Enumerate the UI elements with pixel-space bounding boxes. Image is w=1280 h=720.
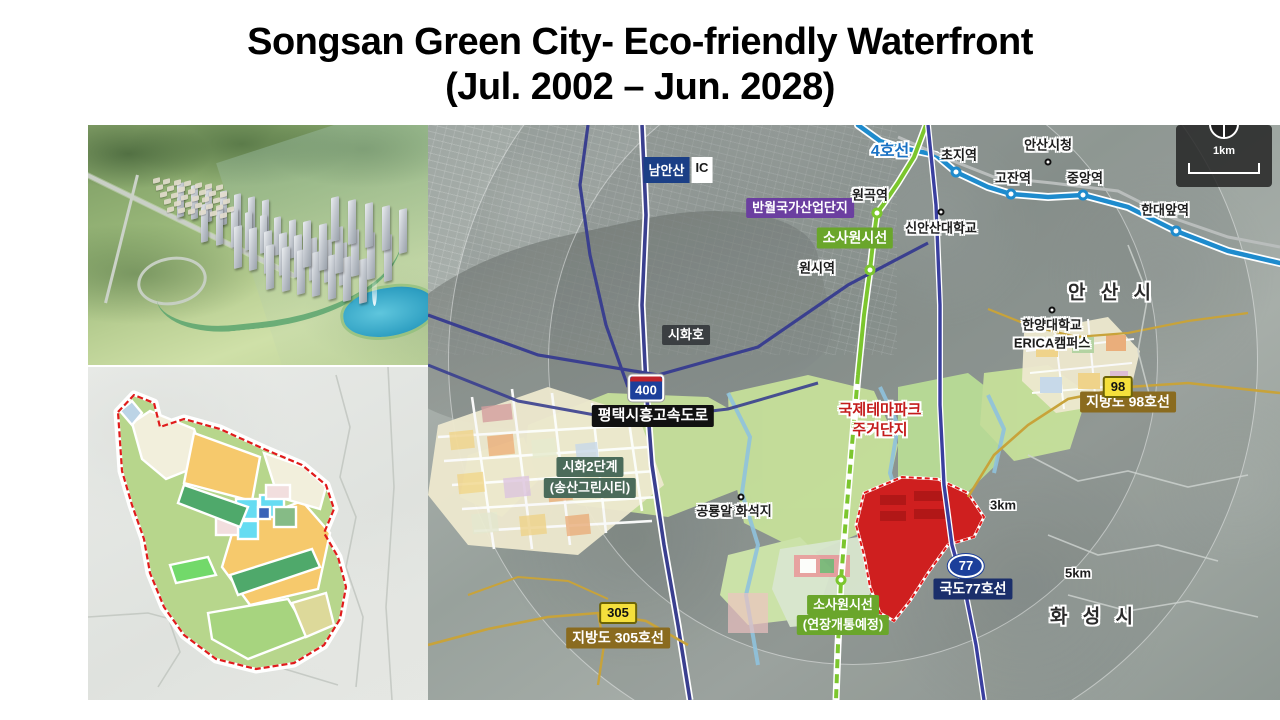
aerial-tower [303, 220, 311, 268]
aerial-tower [234, 225, 242, 269]
aerial-lowrise-block [181, 194, 188, 201]
label-wonsi-station: 원시역 [799, 262, 835, 275]
title-line-1: Songsan Green City- Eco-friendly Waterfr… [247, 21, 1033, 63]
station-wonsi [865, 265, 876, 276]
expressway-diagonal [428, 243, 928, 375]
aerial-tower [249, 227, 257, 271]
aerial-tower [359, 258, 367, 304]
label-handaeap-station: 한대앞역 [1141, 204, 1189, 217]
shield-400-number: 400 [635, 383, 657, 398]
landuse-vector [88, 367, 428, 700]
title-line-2: (Jul. 2002 – Jun. 2028) [0, 65, 1280, 110]
label-banwol-industrial-complex: 반월국가산업단지 [746, 198, 854, 218]
regional-satellite-map: 남안산 IC 4호선 반월국가산업단지 소사원시선 원곡역 원시역 초지역 안산… [428, 125, 1280, 700]
poi-dinosaur-egg-fossil-site [738, 494, 745, 501]
aerial-tower [331, 196, 339, 242]
label-line-4: 4호선 [871, 144, 909, 160]
aerial-tower [399, 208, 407, 254]
label-ansan-si: 안 산 시 [1068, 284, 1156, 303]
scale-bar [1188, 163, 1260, 174]
aerial-tower [266, 244, 274, 290]
label-shinansan-university: 신안산대학교 [905, 222, 977, 235]
label-sihwa-phase-2: 시화2단계 [556, 457, 623, 477]
label-gojan-station: 고잔역 [995, 172, 1031, 185]
label-dinosaur-egg-fossil-site: 공룡알 화석지 [696, 505, 771, 518]
aerial-tower [365, 202, 373, 248]
label-songsan-green-city: (송산그린시티) [544, 478, 636, 498]
label-jungang-station: 중앙역 [1067, 172, 1103, 185]
label-sosa-wonsi-extension-note: (연장개통예정) [797, 615, 889, 635]
label-sosa-wonsi-line-extension: 소사원시선 [807, 595, 879, 615]
station-gojan [1006, 189, 1017, 200]
aerial-tower [348, 199, 356, 245]
shield-local-98: 98 [1103, 376, 1133, 398]
poi-shinansan-university [938, 209, 945, 216]
poi-ansan-city-hall [1045, 159, 1052, 166]
label-namansan-ic: 남안산 IC [644, 157, 713, 183]
aerial-lowrise-block [156, 184, 163, 191]
label-national-road-77: 국도77호선 [933, 579, 1012, 600]
shield-400-cap [630, 377, 662, 382]
aerial-lowrise-block [195, 182, 202, 189]
label-radius-5km: 5km [1065, 567, 1091, 580]
aerial-lowrise-block [213, 197, 220, 204]
shield-local-305: 305 [599, 602, 637, 624]
aerial-tower [216, 206, 223, 246]
page-title: Songsan Green City- Eco-friendly Waterfr… [0, 20, 1280, 110]
label-choji-station: 초지역 [941, 149, 977, 162]
label-sihwa-lake: 시화호 [662, 325, 710, 345]
aerial-tower [382, 205, 390, 251]
aerial-lowrise-block [209, 190, 216, 197]
label-sosa-wonsi-line: 소사원시선 [817, 228, 893, 249]
aerial-lowrise-block [163, 178, 170, 185]
aerial-lowrise-block [167, 185, 174, 192]
scale-bar-label: 1km [1213, 145, 1235, 157]
land-use-plan-image [88, 367, 428, 700]
label-hanyang-erica-campus: ERICA캠퍼스 [1014, 337, 1090, 350]
label-radius-3km: 3km [990, 499, 1016, 512]
aerial-lowrise-block [164, 199, 171, 206]
station-wongok [872, 208, 883, 219]
label-ansan-city-hall: 안산시청 [1024, 139, 1072, 152]
aerial-tower [343, 256, 351, 302]
label-pyeongtaek-siheung-expressway: 평택시흥고속도로 [592, 405, 714, 427]
label-international-theme-park-housing: 주거단지 [852, 421, 907, 438]
shield-interstate-400: 400 [628, 375, 664, 402]
label-namansan-ic-suffix: IC [691, 157, 712, 183]
slide-root: Songsan Green City- Eco-friendly Waterfr… [0, 0, 1280, 720]
station-handaeap [1171, 226, 1182, 237]
compass-scale-box: 1km [1176, 125, 1272, 187]
label-international-theme-park: 국제테마파크 [839, 401, 922, 418]
label-local-road-305: 지방도 305호선 [566, 628, 670, 649]
expressway-namansan [580, 125, 628, 387]
label-wongok-station: 원곡역 [852, 189, 888, 202]
aerial-lowrise-block [216, 184, 223, 191]
aerial-lowrise-block [153, 177, 160, 184]
aerial-tower [319, 223, 327, 271]
aerial-lowrise-block [160, 191, 167, 198]
label-hanyang-university: 한양대학교 [1022, 319, 1082, 332]
station-sosa-extension [836, 575, 847, 586]
label-hwaseong-si: 화 성 시 [1050, 608, 1138, 627]
aerial-lowrise-block [167, 206, 174, 213]
compass-icon [1209, 125, 1239, 139]
label-namansan-name: 남안산 [644, 157, 690, 183]
aerial-tower [282, 246, 290, 292]
poi-hanyang-erica-campus [1049, 307, 1056, 314]
station-choji [951, 167, 962, 178]
station-jungang [1078, 190, 1089, 201]
